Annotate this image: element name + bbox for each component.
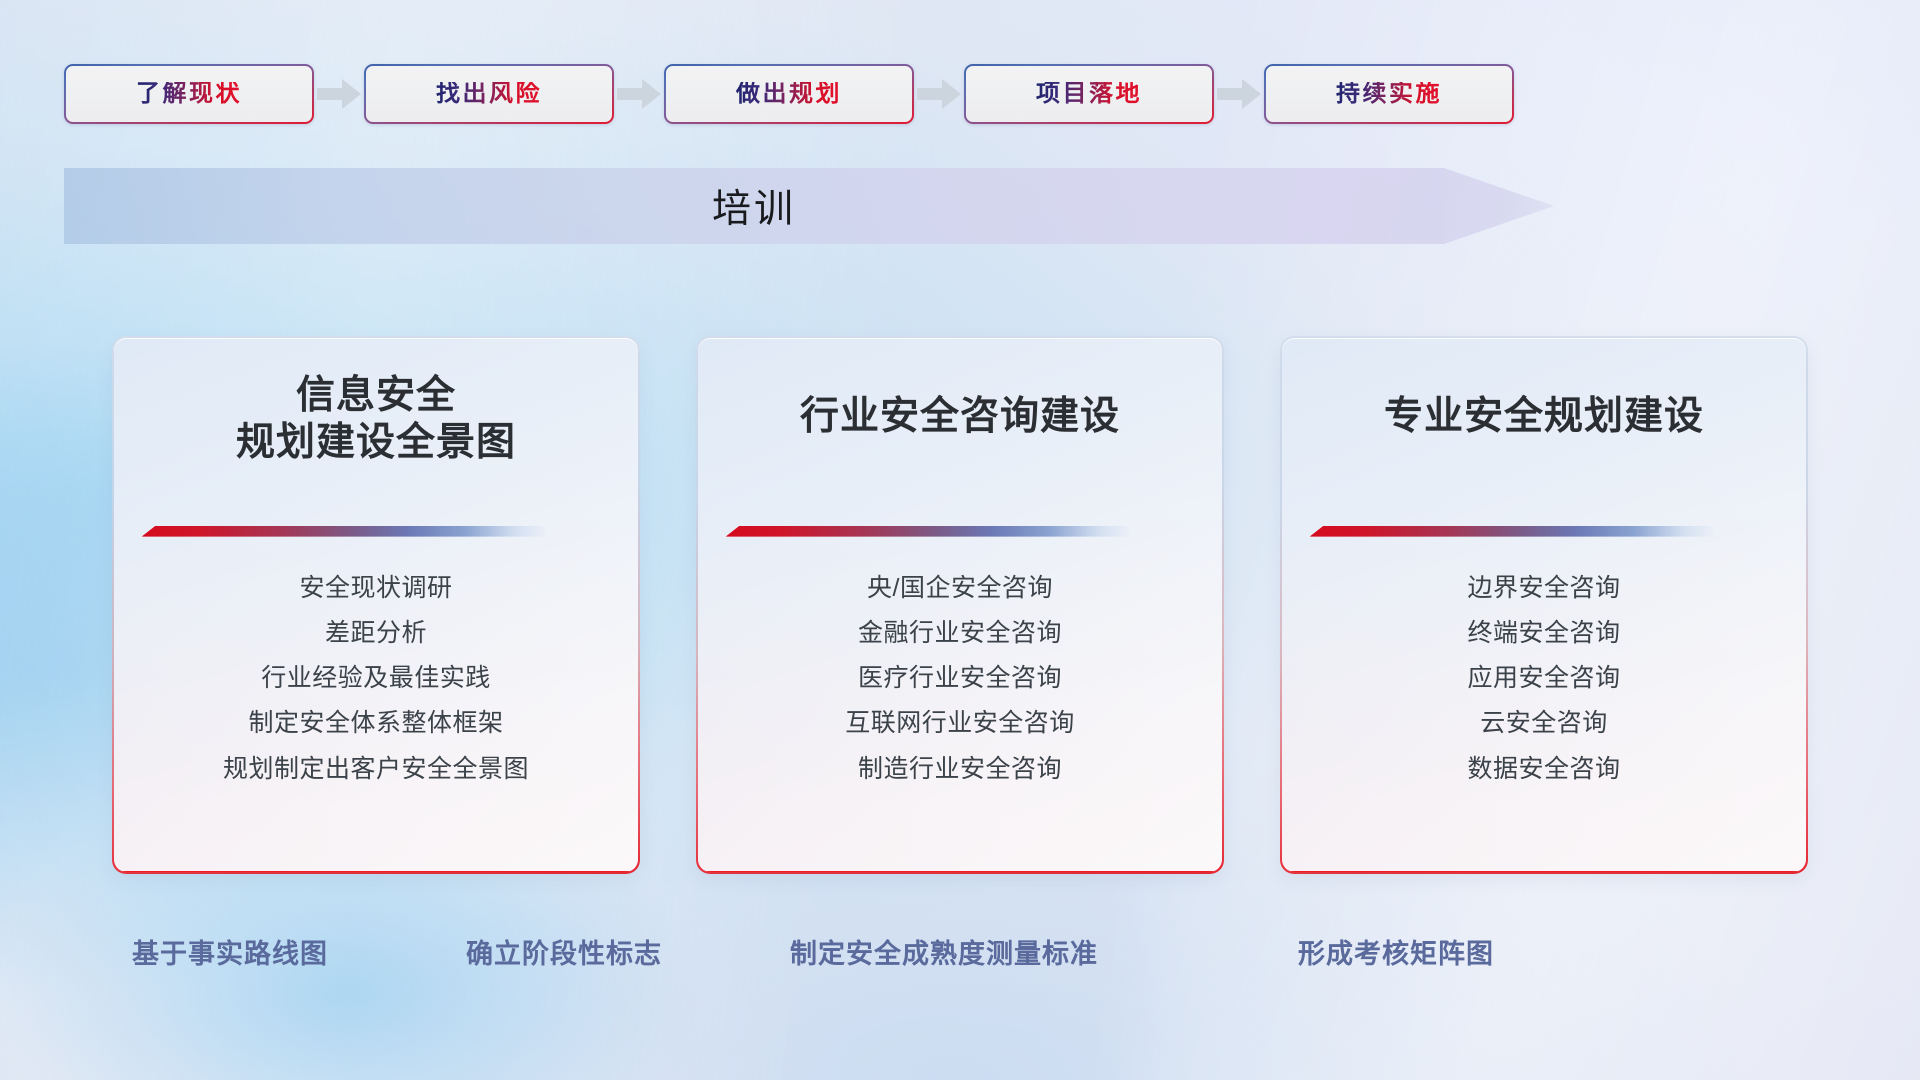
step-box-1[interactable]: 了解现状 <box>64 64 314 124</box>
step-box-2[interactable]: 找出风险 <box>364 64 614 124</box>
card-3-title: 专业安全规划建设 <box>1282 393 1807 441</box>
training-banner: 培训 <box>64 168 1518 244</box>
step-box-5[interactable]: 持续实施 <box>1264 64 1514 124</box>
card-3-face: 专业安全规划建设 边界安全咨询 终端安全咨询 应用安全咨询 云安全咨询 数据安全… <box>1282 338 1807 873</box>
card-professional-security-planning[interactable]: 专业安全规划建设 边界安全咨询 终端安全咨询 应用安全咨询 云安全咨询 数据安全… <box>1280 336 1808 874</box>
card-1-list: 安全现状调研 差距分析 行业经验及最佳实践 制定安全体系整体框架 规划制定出客户… <box>114 570 639 787</box>
card-1-frame: 信息安全 规划建设全景图 安全现状调研 差距分析 行业经验及最佳实践 制定安全体… <box>112 336 640 874</box>
list-item: 应用安全咨询 <box>1467 660 1620 696</box>
card-3-list: 边界安全咨询 终端安全咨询 应用安全咨询 云安全咨询 数据安全咨询 <box>1282 570 1807 787</box>
caption-matrix: 形成考核矩阵图 <box>1298 932 1494 971</box>
caption-roadmap: 基于事实路线图 <box>132 932 328 971</box>
card-1-divider <box>142 526 546 537</box>
step-box-1-inner: 了解现状 <box>66 66 312 122</box>
training-banner-title: 培训 <box>64 168 1444 244</box>
card-3-frame: 专业安全规划建设 边界安全咨询 终端安全咨询 应用安全咨询 云安全咨询 数据安全… <box>1280 336 1808 874</box>
step-box-3-inner: 做出规划 <box>666 66 912 122</box>
card-information-security-blueprint[interactable]: 信息安全 规划建设全景图 安全现状调研 差距分析 行业经验及最佳实践 制定安全体… <box>112 336 640 874</box>
step-box-3-label: 做出规划 <box>736 82 842 106</box>
card-3-divider <box>1310 526 1714 537</box>
list-item: 规划制定出客户安全全景图 <box>223 751 529 787</box>
caption-milestone: 确立阶段性标志 <box>466 932 662 971</box>
list-item: 金融行业安全咨询 <box>858 615 1062 651</box>
step-box-3[interactable]: 做出规划 <box>664 64 914 124</box>
step-box-1-label: 了解现状 <box>136 82 242 106</box>
card-industry-security-consulting[interactable]: 行业安全咨询建设 央/国企安全咨询 金融行业安全咨询 医疗行业安全咨询 互联网行… <box>696 336 1224 874</box>
card-1-title: 信息安全 规划建设全景图 <box>114 372 639 467</box>
list-item: 制造行业安全咨询 <box>858 751 1062 787</box>
step-box-4-inner: 项目落地 <box>966 66 1212 122</box>
step-box-5-label: 持续实施 <box>1336 82 1442 106</box>
list-item: 医疗行业安全咨询 <box>858 660 1062 696</box>
list-item: 终端安全咨询 <box>1467 615 1620 651</box>
caption-row: 基于事实路线图 确立阶段性标志 制定安全成熟度测量标准 形成考核矩阵图 <box>0 932 1920 978</box>
list-item: 行业经验及最佳实践 <box>261 660 491 696</box>
list-item: 差距分析 <box>325 615 427 651</box>
list-item: 数据安全咨询 <box>1467 751 1620 787</box>
card-1-face: 信息安全 规划建设全景图 安全现状调研 差距分析 行业经验及最佳实践 制定安全体… <box>114 338 639 873</box>
list-item: 云安全咨询 <box>1480 705 1608 741</box>
arrow-right-icon <box>1214 64 1264 124</box>
step-box-4-label: 项目落地 <box>1036 82 1142 106</box>
arrow-right-icon <box>614 64 664 124</box>
card-2-list: 央/国企安全咨询 金融行业安全咨询 医疗行业安全咨询 互联网行业安全咨询 制造行… <box>698 570 1223 787</box>
list-item: 互联网行业安全咨询 <box>845 705 1075 741</box>
step-box-5-inner: 持续实施 <box>1266 66 1512 122</box>
arrow-right-icon <box>914 64 964 124</box>
list-item: 安全现状调研 <box>299 570 452 606</box>
card-2-title: 行业安全咨询建设 <box>698 393 1223 441</box>
process-step-row: 了解现状 找出风险 做出规划 项目落地 <box>64 64 1854 124</box>
caption-maturity: 制定安全成熟度测量标准 <box>790 932 1098 971</box>
step-box-4[interactable]: 项目落地 <box>964 64 1214 124</box>
list-item: 制定安全体系整体框架 <box>248 705 503 741</box>
list-item: 央/国企安全咨询 <box>867 570 1053 606</box>
list-item: 边界安全咨询 <box>1467 570 1620 606</box>
step-box-2-label: 找出风险 <box>436 82 542 106</box>
card-2-face: 行业安全咨询建设 央/国企安全咨询 金融行业安全咨询 医疗行业安全咨询 互联网行… <box>698 338 1223 873</box>
card-2-frame: 行业安全咨询建设 央/国企安全咨询 金融行业安全咨询 医疗行业安全咨询 互联网行… <box>696 336 1224 874</box>
card-2-divider <box>726 526 1130 537</box>
arrow-right-icon <box>314 64 364 124</box>
step-box-2-inner: 找出风险 <box>366 66 612 122</box>
